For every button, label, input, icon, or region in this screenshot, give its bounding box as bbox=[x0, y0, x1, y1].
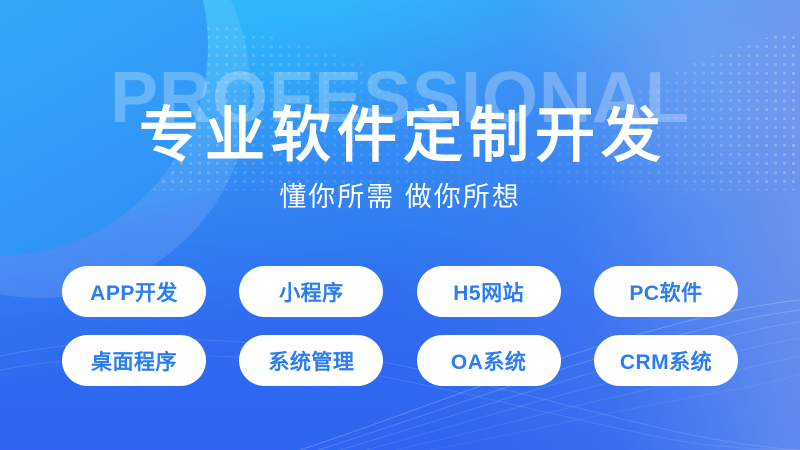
page-subtitle: 懂你所需 做你所想 bbox=[0, 183, 800, 213]
service-pill-system-management[interactable]: 系统管理 bbox=[239, 335, 383, 386]
service-pill-oa-system[interactable]: OA系统 bbox=[417, 335, 561, 386]
service-pill-app-development[interactable]: APP开发 bbox=[62, 266, 206, 317]
page-title: 专业软件定制开发 bbox=[0, 104, 800, 169]
headline-block: 专业软件定制开发 懂你所需 做你所想 bbox=[0, 104, 800, 212]
service-pill-pc-software[interactable]: PC软件 bbox=[594, 266, 738, 317]
service-pill-crm-system[interactable]: CRM系统 bbox=[594, 335, 738, 386]
service-pill-desktop-program[interactable]: 桌面程序 bbox=[62, 335, 206, 386]
service-pill-row-2: 桌面程序 系统管理 OA系统 CRM系统 bbox=[62, 335, 738, 386]
promo-banner: PROFESSIONAL 专业软件定制开发 懂你所需 做你所想 APP开发 小程… bbox=[0, 0, 800, 450]
service-pill-area: APP开发 小程序 H5网站 PC软件 桌面程序 系统管理 OA系统 CRM系统 bbox=[62, 266, 738, 404]
service-pill-mini-program[interactable]: 小程序 bbox=[239, 266, 383, 317]
service-pill-h5-website[interactable]: H5网站 bbox=[417, 266, 561, 317]
service-pill-row-1: APP开发 小程序 H5网站 PC软件 bbox=[62, 266, 738, 317]
